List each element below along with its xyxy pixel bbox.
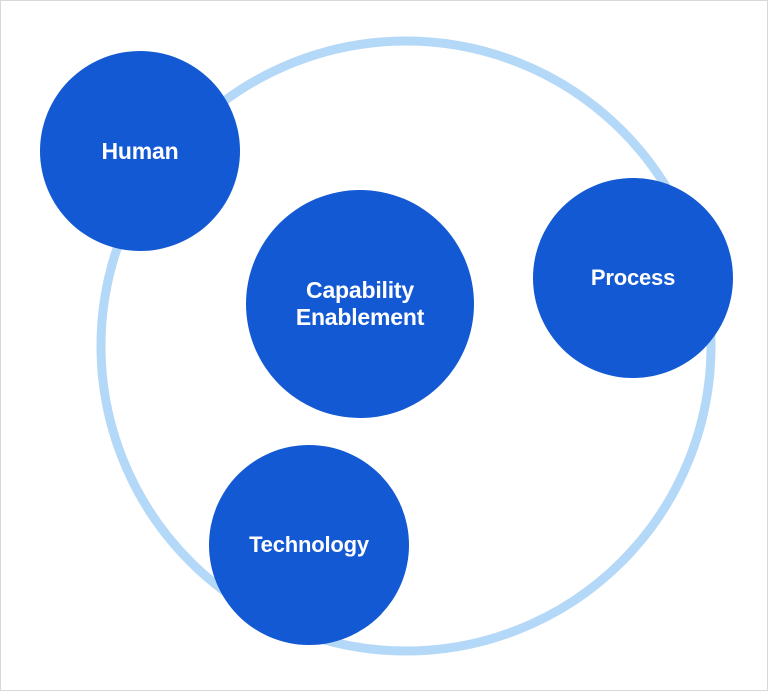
node-human-label: Human	[92, 138, 189, 165]
node-technology[interactable]: Technology	[209, 445, 409, 645]
node-capability-enablement[interactable]: Capability Enablement	[246, 190, 474, 418]
node-process-label: Process	[581, 265, 685, 291]
node-technology-label: Technology	[239, 532, 379, 558]
node-human[interactable]: Human	[40, 51, 240, 251]
node-process[interactable]: Process	[533, 178, 733, 378]
node-capability-enablement-label: Capability Enablement	[286, 277, 434, 330]
diagram-canvas: Human Process Technology Capability Enab…	[0, 0, 768, 691]
